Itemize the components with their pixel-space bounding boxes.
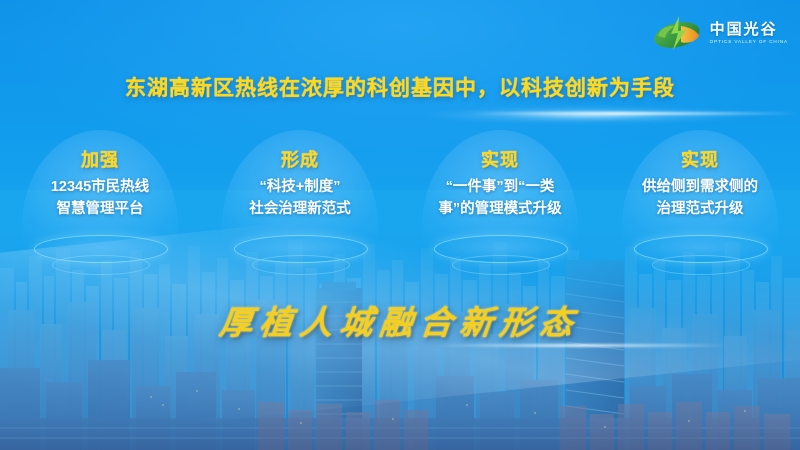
card-line-2: 事”的管理模式升级 [404,198,596,220]
calligraphy-slogan: 厚植人城融合新形态 [0,296,800,344]
logo-english-name: OPTICS VALLEY OF CHINA [710,40,788,45]
card-body: “科技+制度” 社会治理新范式 [204,176,396,221]
card-line-2: 社会治理新范式 [204,198,396,220]
headline: 东湖高新区热线在浓厚的科创基因中，以科技创新为手段 [0,72,800,102]
card-line-1: “一件事”到“一类 [404,176,596,198]
logo-chinese-name: 中国光谷 [710,22,788,37]
card-line-1: “科技+制度” [204,176,396,198]
card-row: 加强 12345市民热线 智慧管理平台 形成 “科技+制度” 社会治理新范式 实… [0,128,800,253]
card-item: 实现 “一件事”到“一类 事”的管理模式升级 [400,128,600,253]
card-item: 实现 供给侧到需求侧的 治理范式升级 [600,128,800,253]
headline-light-streak [330,104,800,126]
card-item: 形成 “科技+制度” 社会治理新范式 [200,128,400,253]
card-line-2: 智慧管理平台 [4,198,196,220]
logo: 中国光谷 OPTICS VALLEY OF CHINA [651,14,788,52]
card-line-1: 12345市民热线 [4,176,196,198]
card-body: 供给侧到需求侧的 治理范式升级 [604,176,796,221]
card-title: 实现 [400,146,600,172]
logo-text: 中国光谷 OPTICS VALLEY OF CHINA [710,22,788,45]
card-item: 加强 12345市民热线 智慧管理平台 [0,128,200,253]
card-body: “一件事”到“一类 事”的管理模式升级 [404,176,596,221]
card-title: 加强 [0,146,200,172]
headline-light-line [470,112,800,115]
calligraphy-underline [430,344,730,347]
optics-valley-emblem-icon [651,14,703,52]
card-body: 12345市民热线 智慧管理平台 [4,176,196,221]
card-line-1: 供给侧到需求侧的 [604,176,796,198]
card-line-2: 治理范式升级 [604,198,796,220]
poster-canvas: 中国光谷 OPTICS VALLEY OF CHINA 东湖高新区热线在浓厚的科… [0,0,800,450]
card-title: 实现 [600,146,800,172]
card-title: 形成 [200,146,400,172]
